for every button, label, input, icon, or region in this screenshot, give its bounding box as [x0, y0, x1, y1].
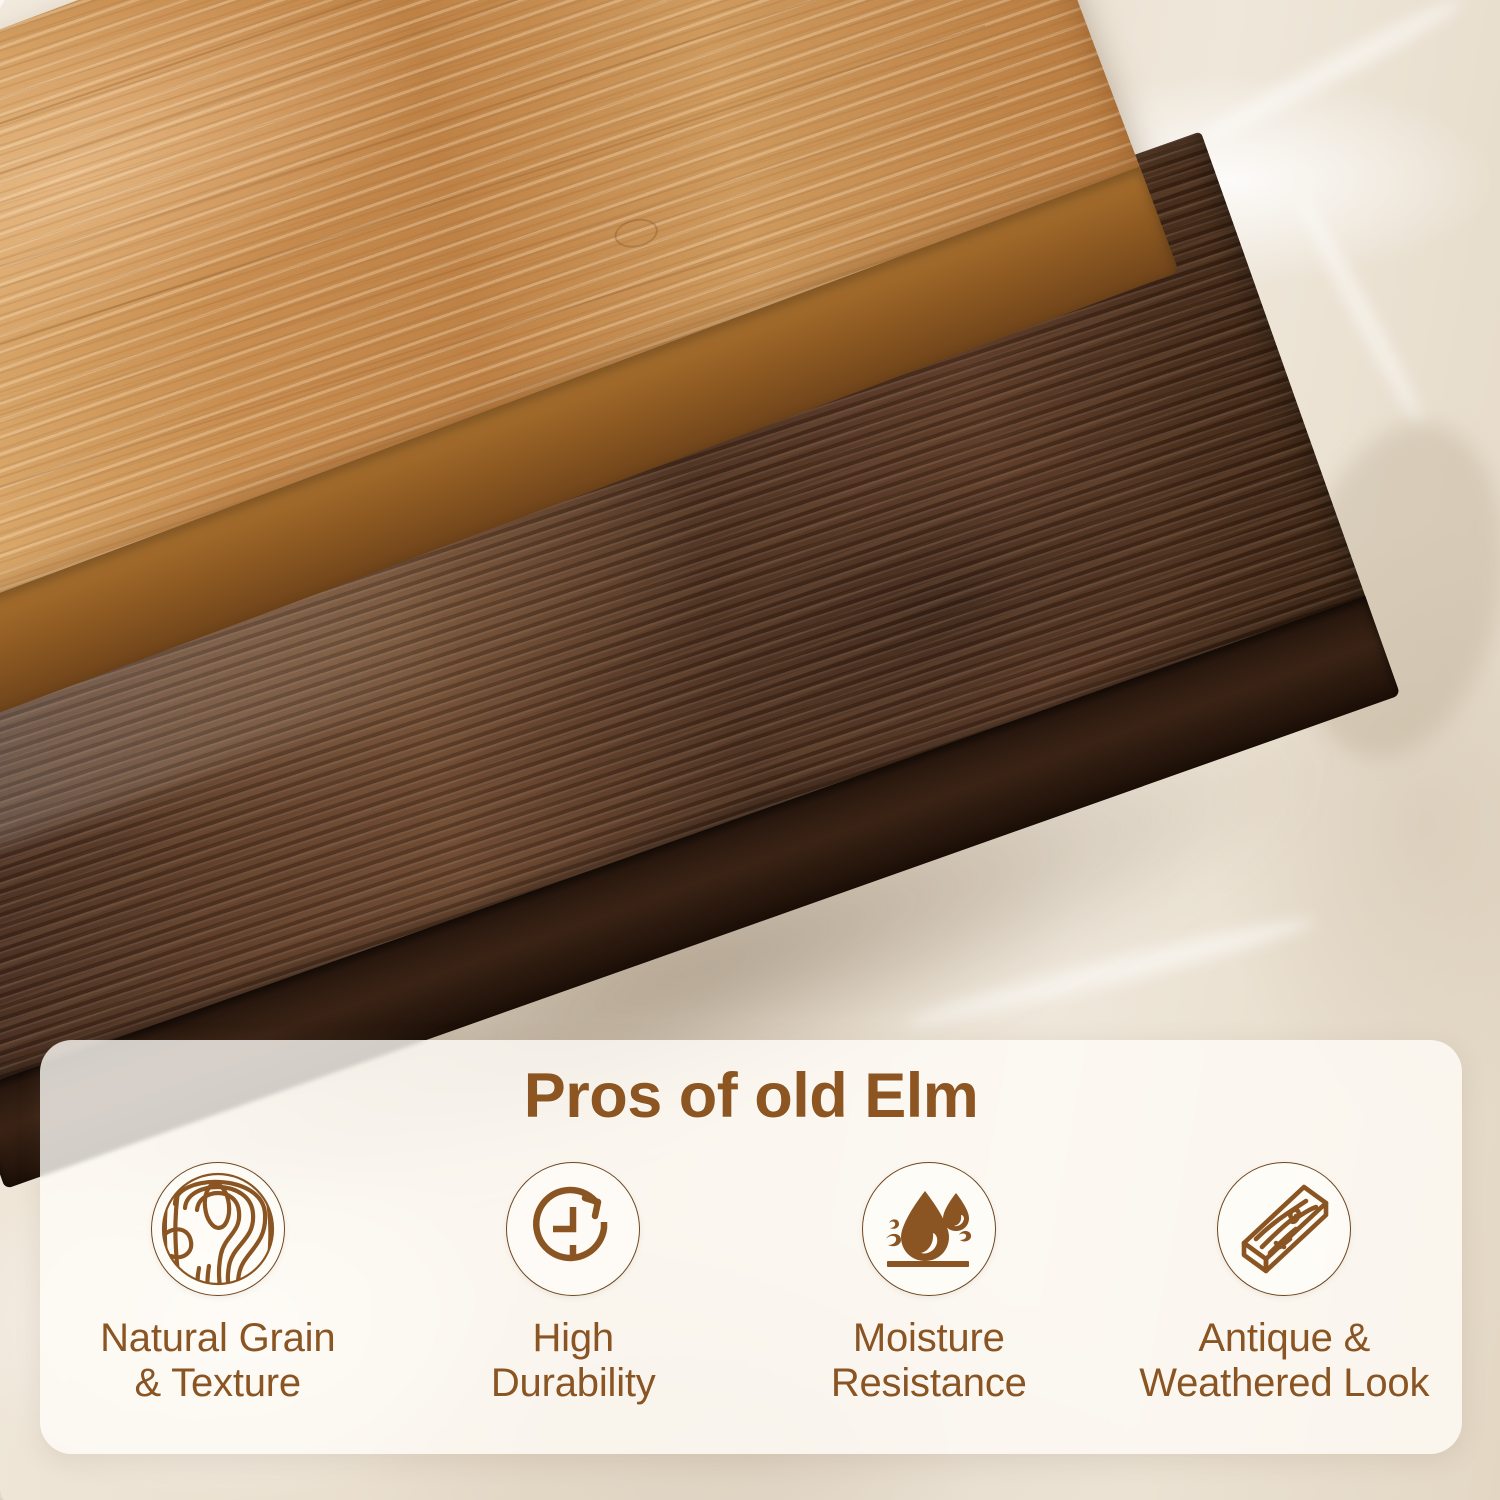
- wood-grain-line: [0, 0, 911, 249]
- feature-list: Natural Grain & Texture High Durability: [40, 1162, 1462, 1406]
- wood-plank-icon: [1217, 1162, 1351, 1296]
- feature-label: Natural Grain & Texture: [100, 1316, 335, 1406]
- feature-label: Antique & Weathered Look: [1139, 1316, 1429, 1406]
- feature-high-durability: High Durability: [408, 1162, 738, 1406]
- feature-natural-grain: Natural Grain & Texture: [53, 1162, 383, 1406]
- feature-label: High Durability: [491, 1316, 656, 1406]
- wood-knot: [612, 214, 661, 251]
- wood-grain-icon: [151, 1162, 285, 1296]
- feature-label: Moisture Resistance: [831, 1316, 1027, 1406]
- water-droplet-icon: [862, 1162, 996, 1296]
- clock-rotate-icon: [506, 1162, 640, 1296]
- feature-antique-weathered: Antique & Weathered Look: [1119, 1162, 1449, 1406]
- wood-grain-line: [0, 0, 919, 215]
- pros-info-card: Pros of old Elm: [40, 1040, 1462, 1454]
- feature-moisture-resistance: Moisture Resistance: [764, 1162, 1094, 1406]
- product-feature-image: Pros of old Elm: [0, 0, 1500, 1500]
- card-title: Pros of old Elm: [40, 1060, 1462, 1132]
